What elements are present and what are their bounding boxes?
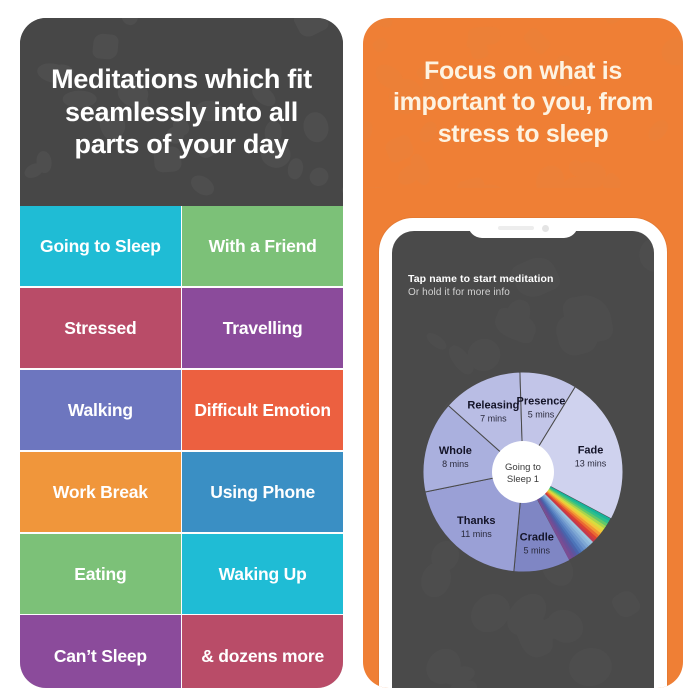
donut-slice-duration: 5 mins: [528, 409, 555, 419]
category-tile-label: & dozens more: [201, 646, 324, 666]
category-tile-label: Can’t Sleep: [54, 646, 147, 666]
donut-hub-label: Sleep 1: [507, 474, 539, 485]
category-tile[interactable]: Travelling: [182, 288, 343, 368]
category-tile-label: Difficult Emotion: [194, 400, 331, 420]
promo-screenshot: Meditations which fit seamlessly into al…: [0, 0, 700, 700]
category-tile-label: Walking: [68, 400, 133, 420]
category-tile[interactable]: Going to Sleep: [20, 206, 181, 286]
category-tile-label: Stressed: [64, 318, 136, 338]
donut-slice-duration: 8 mins: [442, 459, 469, 469]
donut-slice-duration: 7 mins: [480, 414, 507, 424]
donut-slice-name: Whole: [439, 445, 472, 457]
category-tile[interactable]: Eating: [20, 534, 181, 614]
donut-slice-name: Fade: [578, 445, 604, 457]
left-headline: Meditations which fit seamlessly into al…: [20, 63, 343, 162]
speaker-icon: [498, 226, 534, 230]
category-tile[interactable]: & dozens more: [182, 615, 343, 688]
category-tile-label: Going to Sleep: [40, 236, 161, 256]
category-tile[interactable]: Stressed: [20, 288, 181, 368]
category-tile[interactable]: With a Friend: [182, 206, 343, 286]
category-tile-label: With a Friend: [209, 236, 317, 256]
left-promo-card: Meditations which fit seamlessly into al…: [20, 18, 343, 688]
donut-slice-name: Thanks: [457, 515, 496, 527]
category-tile[interactable]: Waking Up: [182, 534, 343, 614]
camera-icon: [542, 225, 549, 232]
category-tile-label: Waking Up: [219, 564, 307, 584]
donut-slice-duration: 13 mins: [575, 459, 607, 469]
category-tile-label: Using Phone: [210, 482, 315, 502]
donut-slice-name: Presence: [517, 395, 566, 407]
category-tile[interactable]: Using Phone: [182, 452, 343, 532]
right-headline: Focus on what is important to you, from …: [363, 56, 683, 151]
donut-slice-name: Releasing: [467, 400, 519, 412]
meditation-donut-chart[interactable]: Cradle5 minsThanks11 minsWhole8 minsRele…: [420, 369, 626, 575]
phone-notch: [468, 218, 578, 238]
category-tile-grid: Going to SleepWith a FriendStressedTrave…: [20, 206, 343, 688]
category-tile[interactable]: Difficult Emotion: [182, 370, 343, 450]
category-tile-label: Work Break: [53, 482, 148, 502]
right-promo-card: Focus on what is important to you, from …: [363, 18, 683, 688]
tap-instruction-title: Tap name to start meditation: [408, 273, 554, 285]
category-tile-label: Travelling: [223, 318, 303, 338]
phone-mockup: Tap name to start meditation Or hold it …: [379, 218, 667, 688]
donut-hub-label: Going to: [505, 462, 541, 473]
phone-screen: Tap name to start meditation Or hold it …: [392, 231, 654, 688]
category-tile[interactable]: Work Break: [20, 452, 181, 532]
category-tile[interactable]: Walking: [20, 370, 181, 450]
right-headline-area: Focus on what is important to you, from …: [363, 18, 683, 188]
category-tile-label: Eating: [74, 564, 126, 584]
donut-slice-duration: 11 mins: [461, 529, 492, 539]
donut-slice-duration: 5 mins: [524, 546, 551, 556]
category-tile[interactable]: Can’t Sleep: [20, 615, 181, 688]
tap-instruction-subtitle: Or hold it for more info: [408, 287, 510, 298]
left-headline-area: Meditations which fit seamlessly into al…: [20, 18, 343, 206]
donut-slice-name: Cradle: [520, 532, 554, 544]
